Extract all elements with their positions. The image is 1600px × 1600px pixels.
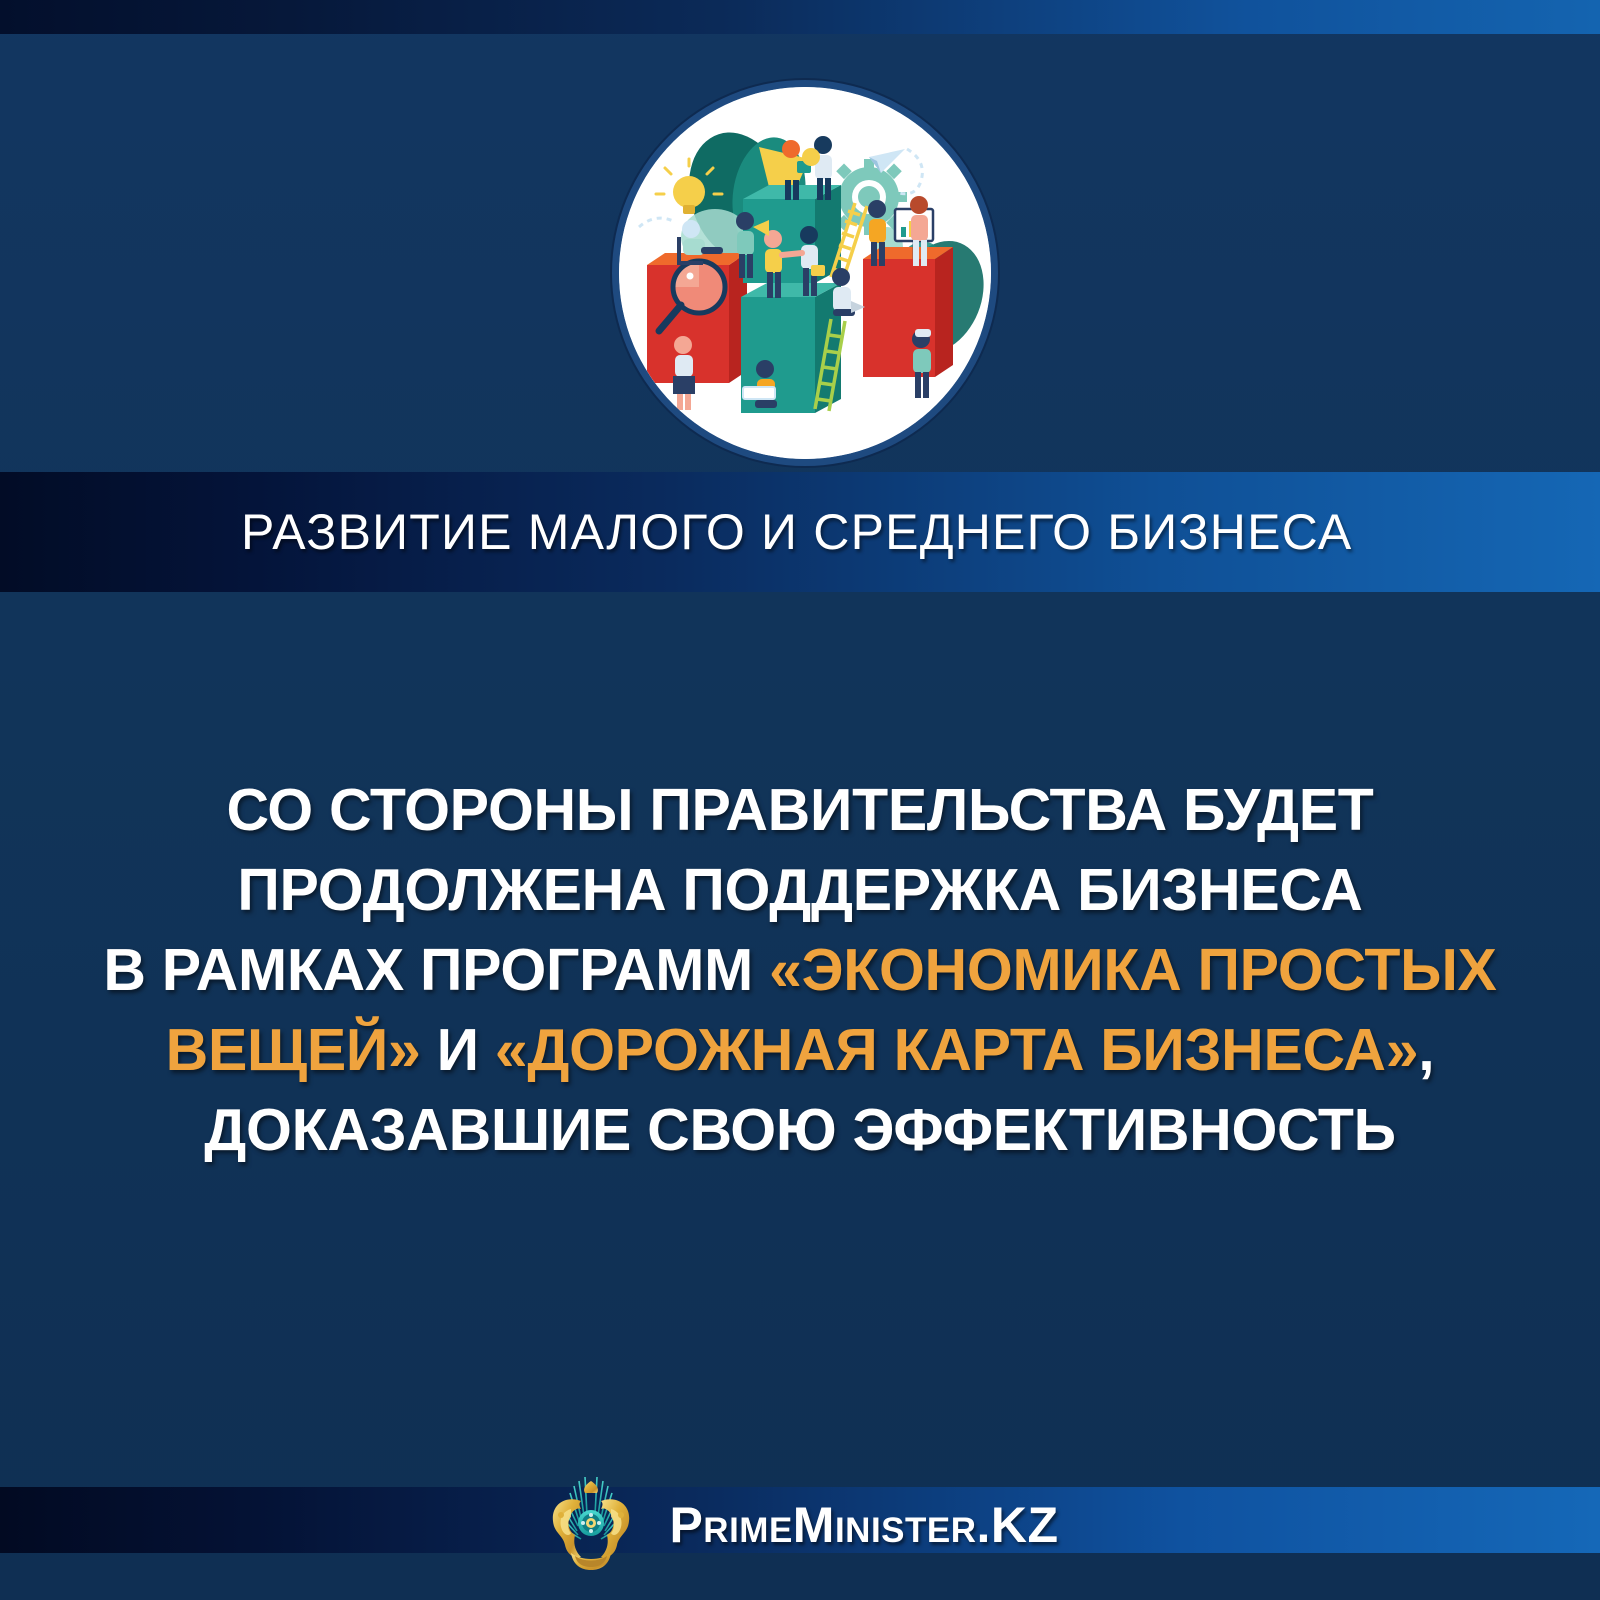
headline-line-3: В РАМКАХ ПРОГРАММ «ЭКОНОМИКА ПРОСТЫХ: [0, 930, 1600, 1010]
section-title-band: РАЗВИТИЕ МАЛОГО И СРЕДНЕГО БИЗНЕСА: [0, 472, 1600, 592]
headline-block: СО СТОРОНЫ ПРАВИТЕЛЬСТВА БУДЕТ ПРОДОЛЖЕН…: [0, 770, 1600, 1170]
headline-line-3-accent: «ЭКОНОМИКА ПРОСТЫХ: [769, 937, 1497, 1003]
headline-line-5: ДОКАЗАВШИЕ СВОЮ ЭФФЕКТИВНОСТЬ: [0, 1090, 1600, 1170]
headline-line-1: СО СТОРОНЫ ПРАВИТЕЛЬСТВА БУДЕТ: [0, 770, 1600, 850]
footer: PrimeMinister.KZ: [0, 1470, 1600, 1580]
headline-line-4-accent-a: ВЕЩЕЙ»: [166, 1017, 421, 1083]
headline-line-2: ПРОДОЛЖЕНА ПОДДЕРЖКА БИЗНЕСА: [0, 850, 1600, 930]
section-title: РАЗВИТИЕ МАЛОГО И СРЕДНЕГО БИЗНЕСА: [241, 503, 1352, 561]
headline-line-4: ВЕЩЕЙ» И «ДОРОЖНАЯ КАРТА БИЗНЕСА»,: [0, 1010, 1600, 1090]
headline-line-4-accent-b: «ДОРОЖНАЯ КАРТА БИЗНЕСА»: [495, 1017, 1418, 1083]
poster-canvas: РАЗВИТИЕ МАЛОГО И СРЕДНЕГО БИЗНЕСА СО СТ…: [0, 0, 1600, 1600]
business-growth-cubes-illustration: [619, 87, 991, 459]
kazakhstan-state-emblem-icon: [541, 1473, 641, 1577]
site-name: PrimeMinister.KZ: [669, 1496, 1058, 1554]
headline-line-4-plain: И: [421, 1017, 495, 1083]
headline-line-3-plain: В РАМКАХ ПРОГРАММ: [103, 937, 769, 1003]
headline-line-4-tail: ,: [1418, 1017, 1434, 1083]
illustration-disc: [619, 87, 991, 459]
illustration-circle: [612, 80, 998, 466]
top-gradient-strip: [0, 0, 1600, 34]
